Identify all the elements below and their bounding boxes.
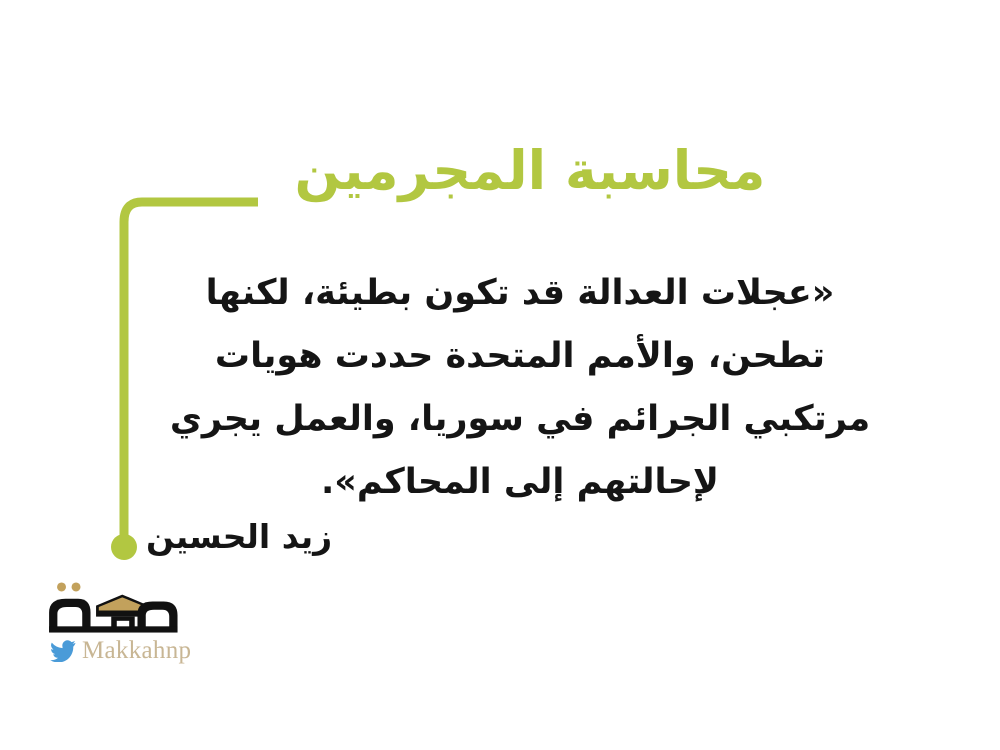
logo-dot-icon xyxy=(57,582,66,591)
logo-dot-icon xyxy=(72,582,81,591)
logo-baseline xyxy=(49,626,177,632)
quote-line: تطحن، والأمم المتحدة حددت هويات xyxy=(150,325,890,388)
green-dot-endpoint xyxy=(111,534,137,560)
quote-line: لإحالتهم إلى المحاكم». xyxy=(150,451,890,514)
brand-block: Makkahnp xyxy=(44,578,264,663)
twitter-handle-text[interactable]: Makkahnp xyxy=(82,638,191,663)
twitter-bird-icon[interactable] xyxy=(50,640,76,662)
quote-text: «عجلات العدالة قد تكون بطيئة، لكنها تطحن… xyxy=(150,262,890,514)
quote-attribution: زيد الحسين xyxy=(146,520,332,553)
page-title: محاسبة المجرمين xyxy=(150,143,910,200)
twitter-handle-row[interactable]: Makkahnp xyxy=(50,638,264,663)
quote-card: محاسبة المجرمين «عجلات العدالة قد تكون ب… xyxy=(0,0,1000,750)
makkah-logo xyxy=(44,578,184,636)
quote-line: «عجلات العدالة قد تكون بطيئة، لكنها xyxy=(150,262,890,325)
quote-line: مرتكبي الجرائم في سوريا، والعمل يجري xyxy=(150,388,890,451)
